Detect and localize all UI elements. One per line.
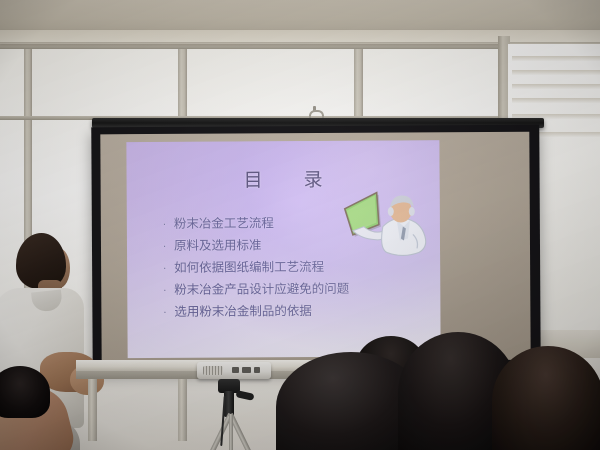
- slide-bullet-text: 如何依据图纸编制工艺流程: [174, 259, 324, 275]
- table-leg: [178, 379, 187, 441]
- audience-head: [492, 346, 600, 450]
- slide-bullet-item: · 粉末冶金产品设计应避免的问题: [163, 280, 431, 299]
- presenter-clipart-icon: [335, 186, 431, 261]
- window-louver: [512, 84, 600, 89]
- projector-port: [232, 367, 239, 373]
- slide-bullet-item: · 如何依据图纸编制工艺流程: [163, 258, 431, 277]
- bullet-dot-icon: ·: [163, 240, 174, 255]
- presentation-photo-scene: 目 录 · 粉末冶金工艺流程 · 原料及选用标准 · 如何依据图纸编制工艺流程: [0, 0, 600, 450]
- projected-slide: 目 录 · 粉末冶金工艺流程 · 原料及选用标准 · 如何依据图纸编制工艺流程: [126, 140, 440, 358]
- table-leg: [88, 379, 97, 441]
- window-louver: [512, 56, 600, 61]
- window-louver: [512, 98, 600, 103]
- bullet-dot-icon: ·: [163, 284, 174, 299]
- window-louver: [512, 70, 600, 75]
- projector-port: [242, 367, 251, 373]
- bullet-dot-icon: ·: [163, 262, 174, 277]
- screen-surface: 目 录 · 粉末冶金工艺流程 · 原料及选用标准 · 如何依据图纸编制工艺流程: [100, 132, 530, 363]
- bullet-dot-icon: ·: [163, 306, 174, 321]
- slide-bullet-text: 原料及选用标准: [174, 237, 262, 253]
- slide-bullet-text: 选用粉末冶金制品的依据: [174, 303, 312, 319]
- slide-bullet-item: · 选用粉末冶金制品的依据: [163, 302, 431, 321]
- slide-bullet-text: 粉末冶金产品设计应避免的问题: [174, 281, 349, 297]
- bullet-dot-icon: ·: [163, 218, 174, 233]
- ceiling-beam: [0, 0, 600, 34]
- tripod-leg: [229, 414, 233, 450]
- projector-vent: [203, 366, 223, 375]
- slide-bullet-text: 粉末冶金工艺流程: [174, 215, 274, 231]
- projector-port: [254, 367, 260, 373]
